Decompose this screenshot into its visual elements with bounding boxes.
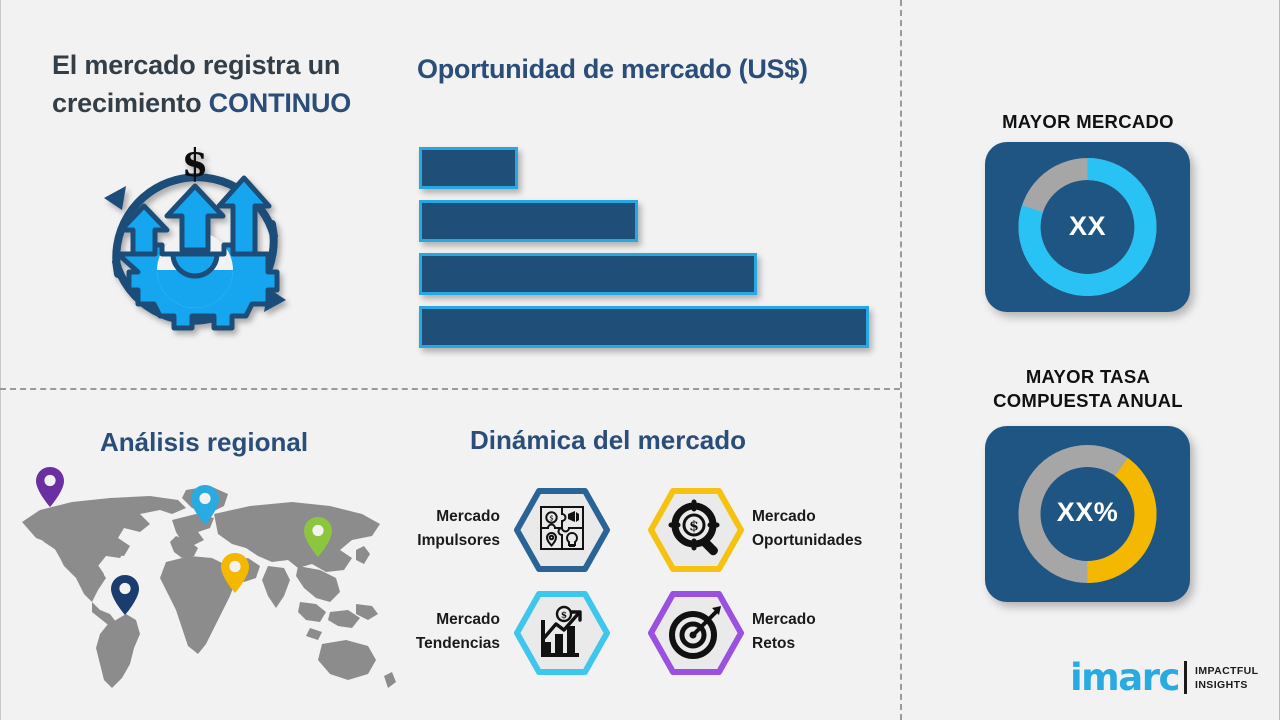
market-opportunity-bar-chart [419,147,879,347]
dynamics-item-drivers[interactable]: Mercado Impulsores $ [408,487,618,573]
puzzle-pieces-icon: $ [514,487,610,573]
magnifier-dollar-icon: $ [648,487,744,573]
imarc-logo[interactable]: imarc IMPACTFUL INSIGHTS [1062,656,1252,702]
growth-bar-chart-icon: $ [514,590,610,676]
bar-4 [419,306,869,348]
imarc-tagline: IMPACTFUL INSIGHTS [1195,664,1258,693]
pin-europe [190,484,220,531]
svg-text:$: $ [561,611,567,621]
dynamics-heading: Dinámica del mercado [470,425,746,456]
dynamics-item-challenges[interactable]: Mercado Retos [648,590,888,676]
bar-1 [419,147,518,189]
pin-south-america [110,574,140,621]
dynamics-item-drivers-label: Mercado Impulsores [408,505,500,553]
dollar-symbol: $ [182,140,208,185]
pin-north-america [35,466,65,513]
dynamics-item-opportunities[interactable]: $ Mercado Oportunidades [648,487,888,573]
growth-heading-line1: El mercado registra un [52,50,340,80]
growth-heading-line2-prefix: crecimiento [52,88,209,118]
growth-heading: El mercado registra un crecimiento CONTI… [52,46,412,123]
dynamics-item-trends[interactable]: Mercado Tendencias $ [408,590,618,676]
world-map [0,462,400,698]
dynamics-item-opportunities-label: Mercado Oportunidades [752,505,862,553]
target-dart-icon [648,590,744,676]
opportunity-heading: Oportunidad de mercado (US$) [417,54,808,85]
pin-middle-east-africa [220,552,250,599]
regional-heading: Análisis regional [100,427,308,458]
pin-east-asia [303,516,333,563]
vertical-divider [900,0,902,720]
svg-text:$: $ [689,519,699,535]
bar-2 [419,200,638,242]
bar-3 [419,253,757,295]
imarc-wordmark: imarc [1070,659,1179,696]
growth-gear-arrows-icon: $ [78,132,312,366]
largest-market-card: XX [985,142,1190,312]
highest-cagr-title: MAYOR TASA COMPUESTA ANUAL [958,365,1218,412]
dynamics-item-trends-label: Mercado Tendencias [408,608,500,656]
highest-cagr-value: XX% [985,497,1190,528]
infographic-slide: El mercado registra un crecimiento CONTI… [0,0,1280,720]
largest-market-title: MAYOR MERCADO [958,110,1218,134]
svg-text:$: $ [549,515,553,523]
highest-cagr-card: XX% [985,426,1190,602]
growth-heading-accent: CONTINUO [209,88,351,118]
logo-divider [1184,661,1187,694]
horizontal-divider [0,388,900,390]
largest-market-value: XX [985,211,1190,242]
dynamics-item-challenges-label: Mercado Retos [752,608,816,656]
